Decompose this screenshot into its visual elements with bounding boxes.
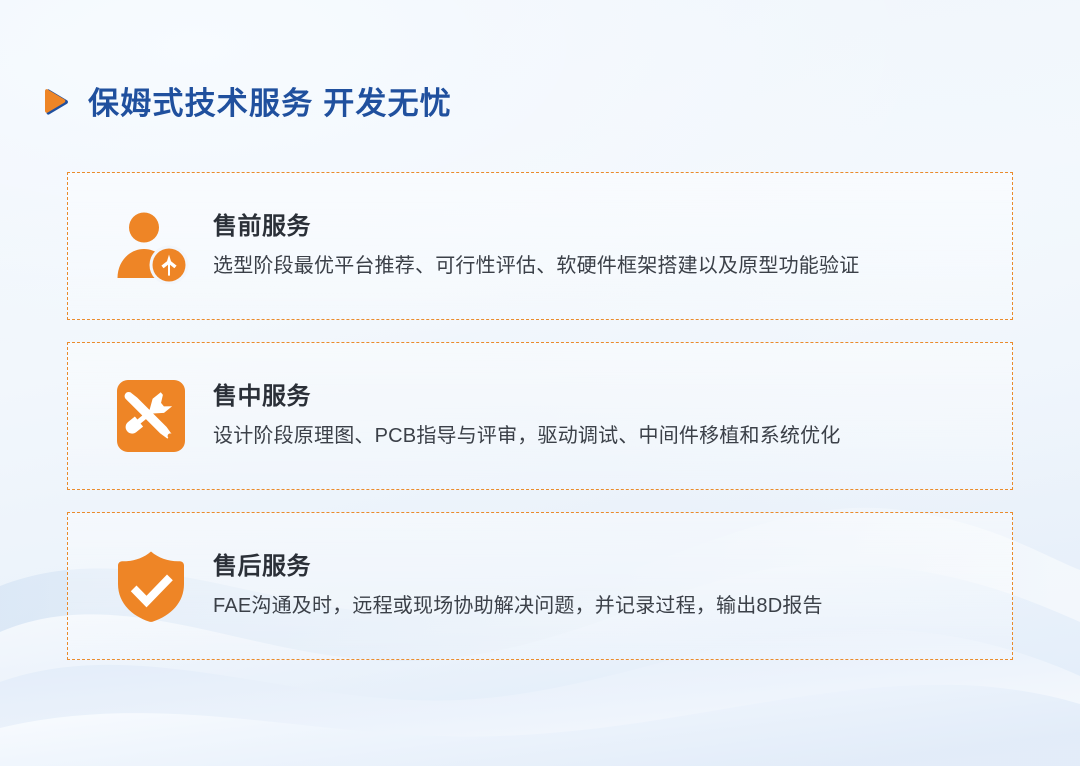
card-text-block: 售中服务 设计阶段原理图、PCB指导与评审，驱动调试、中间件移植和系统优化 xyxy=(213,382,1012,451)
card-heading: 售前服务 xyxy=(213,212,1012,242)
shield-check-icon xyxy=(113,548,189,624)
page-content: 保姆式技术服务 开发无忧 售前服务 选型阶段最优平台推荐、可行性评估、软硬件框架… xyxy=(0,0,1080,766)
service-card-in-sales[interactable]: 售中服务 设计阶段原理图、PCB指导与评审，驱动调试、中间件移植和系统优化 xyxy=(67,342,1013,490)
card-heading: 售后服务 xyxy=(213,552,1012,582)
service-card-pre-sales[interactable]: 售前服务 选型阶段最优平台推荐、可行性评估、软硬件框架搭建以及原型功能验证 xyxy=(67,172,1013,320)
play-triangle-icon xyxy=(40,86,74,120)
card-text-block: 售后服务 FAE沟通及时，远程或现场协助解决问题，并记录过程，输出8D报告 xyxy=(213,552,1012,621)
card-description: 选型阶段最优平台推荐、可行性评估、软硬件框架搭建以及原型功能验证 xyxy=(213,253,1012,279)
card-description: FAE沟通及时，远程或现场协助解决问题，并记录过程，输出8D报告 xyxy=(213,593,1012,619)
card-heading: 售中服务 xyxy=(213,382,1012,412)
page-title: 保姆式技术服务 开发无忧 xyxy=(88,88,452,119)
user-service-icon xyxy=(113,208,189,284)
card-description: 设计阶段原理图、PCB指导与评审，驱动调试、中间件移植和系统优化 xyxy=(213,423,1012,449)
tools-wrench-screwdriver-icon xyxy=(113,378,189,454)
card-text-block: 售前服务 选型阶段最优平台推荐、可行性评估、软硬件框架搭建以及原型功能验证 xyxy=(213,212,1012,281)
page-heading: 保姆式技术服务 开发无忧 xyxy=(40,86,452,120)
service-card-list: 售前服务 选型阶段最优平台推荐、可行性评估、软硬件框架搭建以及原型功能验证 售中… xyxy=(67,172,1013,660)
service-card-after-sales[interactable]: 售后服务 FAE沟通及时，远程或现场协助解决问题，并记录过程，输出8D报告 xyxy=(67,512,1013,660)
